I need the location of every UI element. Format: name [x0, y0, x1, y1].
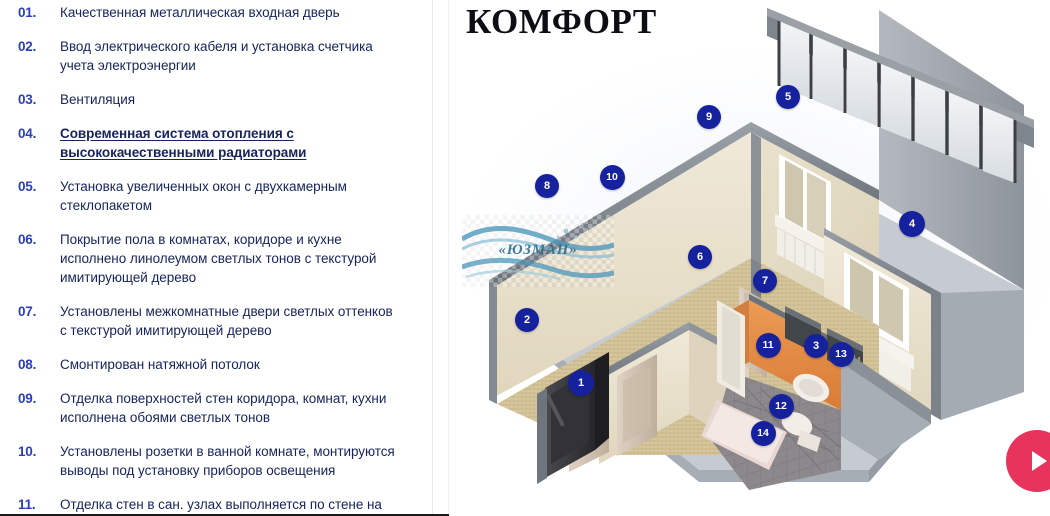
plan-marker-3[interactable]: 3 [804, 334, 828, 358]
plan-marker-10[interactable]: 10 [600, 165, 625, 190]
plan-marker-7[interactable]: 7 [753, 269, 777, 293]
apartment-features-page: 01.Качественная металлическая входная дв… [0, 0, 1050, 516]
feature-text: Смонтирован натяжной потолок [60, 355, 422, 374]
feature-text: Отделка поверхностей стен коридора, комн… [60, 389, 422, 427]
feature-item: 10.Установлены розетки в ванной комнате,… [0, 442, 432, 480]
page-title: КОМФОРТ [466, 2, 657, 42]
feature-text: Качественная металлическая входная дверь [60, 3, 422, 22]
feature-number: 02. [0, 37, 60, 56]
plan-marker-14[interactable]: 14 [751, 421, 776, 446]
plan-marker-2[interactable]: 2 [515, 308, 539, 332]
play-icon [1032, 451, 1047, 471]
plan-marker-12[interactable]: 12 [769, 394, 794, 419]
feature-number: 07. [0, 302, 60, 321]
feature-number: 01. [0, 3, 60, 22]
feature-number: 09. [0, 389, 60, 408]
feature-text: Ввод электрического кабеля и установка с… [60, 37, 422, 75]
feature-number: 10. [0, 442, 60, 461]
feature-item: 07.Установлены межкомнатные двери светлы… [0, 302, 432, 340]
feature-item: 06.Покрытие пола в комнатах, коридоре и … [0, 230, 432, 287]
feature-number: 11. [0, 495, 60, 514]
feature-number: 04. [0, 124, 60, 143]
watermark: «ЮЗМАН» [462, 215, 614, 287]
feature-text: Покрытие пола в комнатах, коридоре и кух… [60, 230, 422, 287]
feature-text: Современная система отопления с высокока… [60, 124, 422, 162]
feature-number: 06. [0, 230, 60, 249]
feature-item: 09.Отделка поверхностей стен коридора, к… [0, 389, 432, 427]
feature-number: 05. [0, 177, 60, 196]
feature-text: Установка увеличенных окон с двухкамерны… [60, 177, 422, 215]
feature-item: 05.Установка увеличенных окон с двухкаме… [0, 177, 432, 215]
feature-number: 08. [0, 355, 60, 374]
watermark-text: «ЮЗМАН» [462, 242, 614, 259]
plan-marker-6[interactable]: 6 [688, 245, 712, 269]
plan-marker-5[interactable]: 5 [776, 85, 800, 109]
plan-marker-13[interactable]: 13 [829, 342, 854, 367]
apartment-render-panel: КОМФОРТ [449, 0, 1050, 516]
feature-text: Вентиляция [60, 90, 422, 109]
feature-item: 01.Качественная металлическая входная дв… [0, 3, 432, 22]
plan-marker-11[interactable]: 11 [756, 333, 781, 358]
features-list: 01.Качественная металлическая входная дв… [0, 3, 432, 516]
feature-text: Установлены межкомнатные двери светлых о… [60, 302, 422, 340]
feature-item: 04.Современная система отопления с высок… [0, 124, 432, 162]
feature-item: 08.Смонтирован натяжной потолок [0, 355, 432, 374]
features-panel: 01.Качественная металлическая входная дв… [0, 0, 432, 516]
plan-marker-9[interactable]: 9 [697, 105, 721, 129]
plan-marker-8[interactable]: 8 [535, 174, 559, 198]
plan-marker-1[interactable]: 1 [568, 370, 594, 396]
feature-text: Отделка стен в сан. узлах выполняется по… [60, 495, 422, 516]
feature-number: 03. [0, 90, 60, 109]
feature-item: 11.Отделка стен в сан. узлах выполняется… [0, 495, 432, 516]
feature-item: 02.Ввод электрического кабеля и установк… [0, 37, 432, 75]
panel-divider [432, 0, 433, 516]
feature-text: Установлены розетки в ванной комнате, мо… [60, 442, 422, 480]
feature-item: 03.Вентиляция [0, 90, 432, 109]
plan-marker-4[interactable]: 4 [899, 211, 925, 237]
